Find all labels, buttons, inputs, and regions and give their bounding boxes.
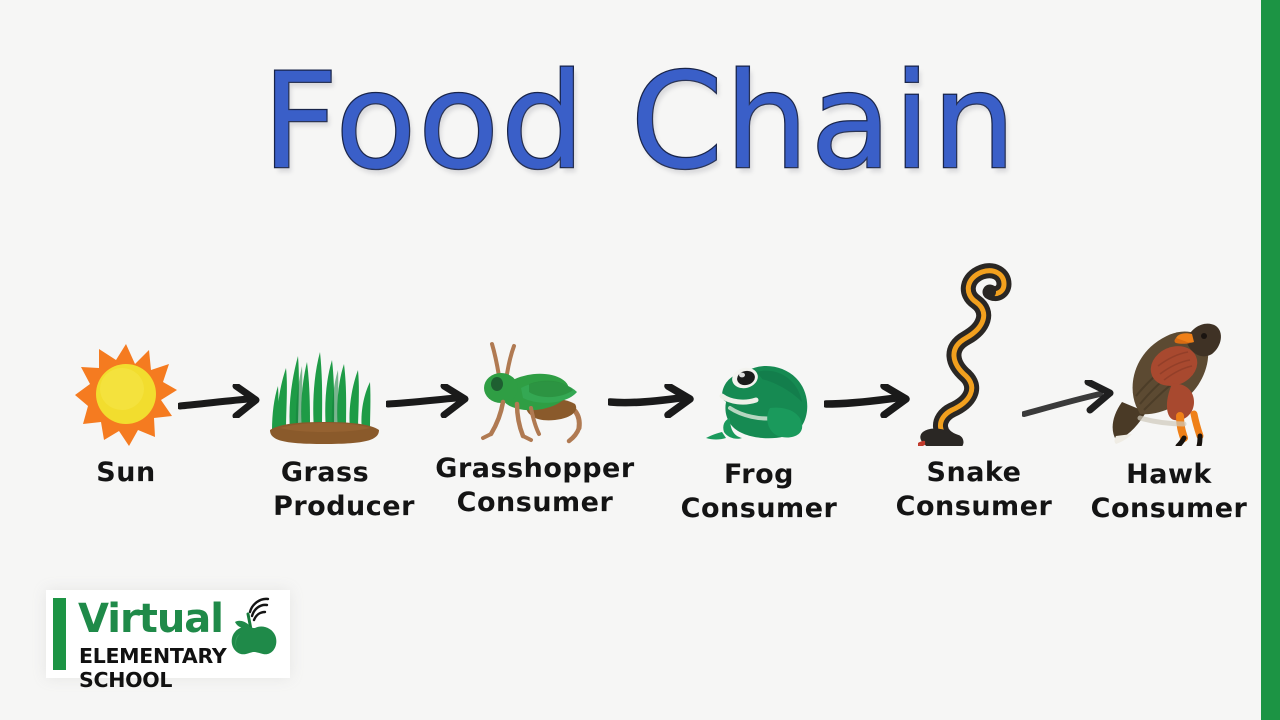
chain-label-frog: Frog Consumer xyxy=(681,458,838,526)
chain-arrow-1 xyxy=(178,384,264,422)
chain-node-grasshopper[interactable]: Grasshopper Consumer xyxy=(470,338,600,450)
chain-label-grasshopper-line1: Grasshopper xyxy=(435,453,634,484)
chain-node-sun[interactable]: Sun xyxy=(75,338,177,450)
frog-clay-figure xyxy=(700,346,818,450)
logo-accent-bar xyxy=(53,598,66,670)
chain-label-frog-line1: Frog xyxy=(724,459,794,490)
grasshopper-clay-figure xyxy=(469,340,601,450)
chain-label-grasshopper-line2: Consumer xyxy=(435,486,634,520)
chain-node-snake[interactable]: Snake Consumer xyxy=(918,260,1030,450)
chain-label-frog-line2: Consumer xyxy=(681,492,838,526)
chain-label-grass-line1: Grass xyxy=(281,457,369,488)
chain-label-snake-line1: Snake xyxy=(927,457,1022,488)
chain-arrow-5 xyxy=(1022,380,1120,422)
food-chain-row: Sun xyxy=(0,250,1265,450)
chain-label-sun: Sun xyxy=(96,456,155,490)
slide-canvas: Food Chain Sun xyxy=(0,0,1280,720)
apple-wifi-icon xyxy=(224,594,282,656)
chain-node-grass[interactable]: Grass Producer xyxy=(266,338,384,450)
chain-label-grasshopper: Grasshopper Consumer xyxy=(435,452,634,520)
chain-label-grass-line2: Producer xyxy=(235,490,415,524)
chain-label-hawk: Hawk Consumer xyxy=(1091,458,1248,526)
snake-clay-figure xyxy=(918,260,1030,450)
page-title: Food Chain xyxy=(0,56,1280,188)
chain-node-hawk[interactable]: Hawk Consumer xyxy=(1110,310,1228,450)
chain-arrow-4 xyxy=(824,384,916,422)
logo-brand-text: Virtual xyxy=(78,597,223,641)
chain-label-snake: Snake Consumer xyxy=(896,456,1053,524)
chain-arrow-2 xyxy=(386,384,474,422)
chain-label-hawk-line2: Consumer xyxy=(1091,492,1248,526)
sun-clay-figure xyxy=(75,342,177,450)
school-logo[interactable]: Virtual ELEMENTARY SCHOOL xyxy=(46,590,290,678)
chain-node-frog[interactable]: Frog Consumer xyxy=(700,338,818,450)
chain-label-snake-line2: Consumer xyxy=(896,490,1053,524)
chain-label-sun-line1: Sun xyxy=(96,457,155,488)
hawk-clay-figure xyxy=(1110,310,1228,450)
grass-clay-figure xyxy=(266,342,384,450)
chain-label-hawk-line1: Hawk xyxy=(1126,459,1212,490)
chain-label-grass: Grass Producer xyxy=(235,456,415,524)
chain-arrow-3 xyxy=(608,384,700,422)
